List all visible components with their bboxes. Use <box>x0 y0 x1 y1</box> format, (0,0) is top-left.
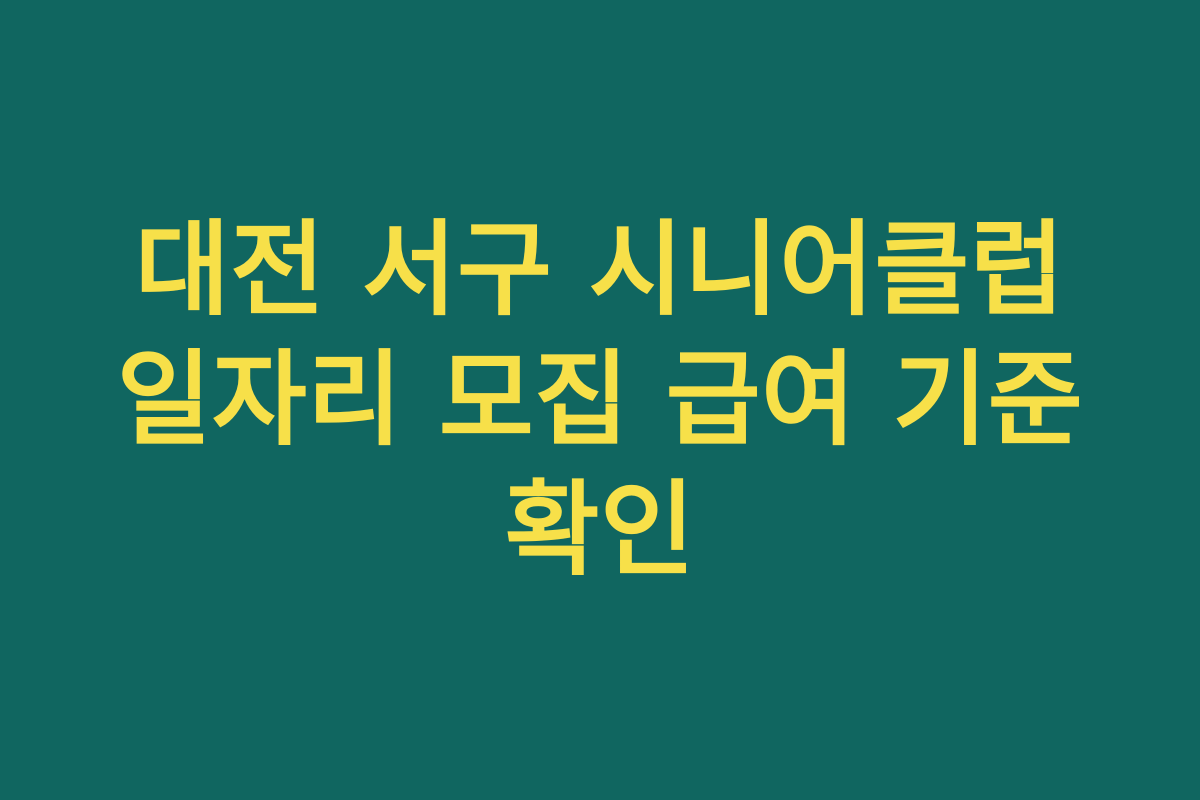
headline-block: 대전 서구 시니어클럽 일자리 모집 급여 기준 확인 <box>95 205 1105 595</box>
banner-card: 대전 서구 시니어클럽 일자리 모집 급여 기준 확인 <box>0 0 1200 800</box>
page-title: 대전 서구 시니어클럽 일자리 모집 급여 기준 확인 <box>95 205 1105 595</box>
